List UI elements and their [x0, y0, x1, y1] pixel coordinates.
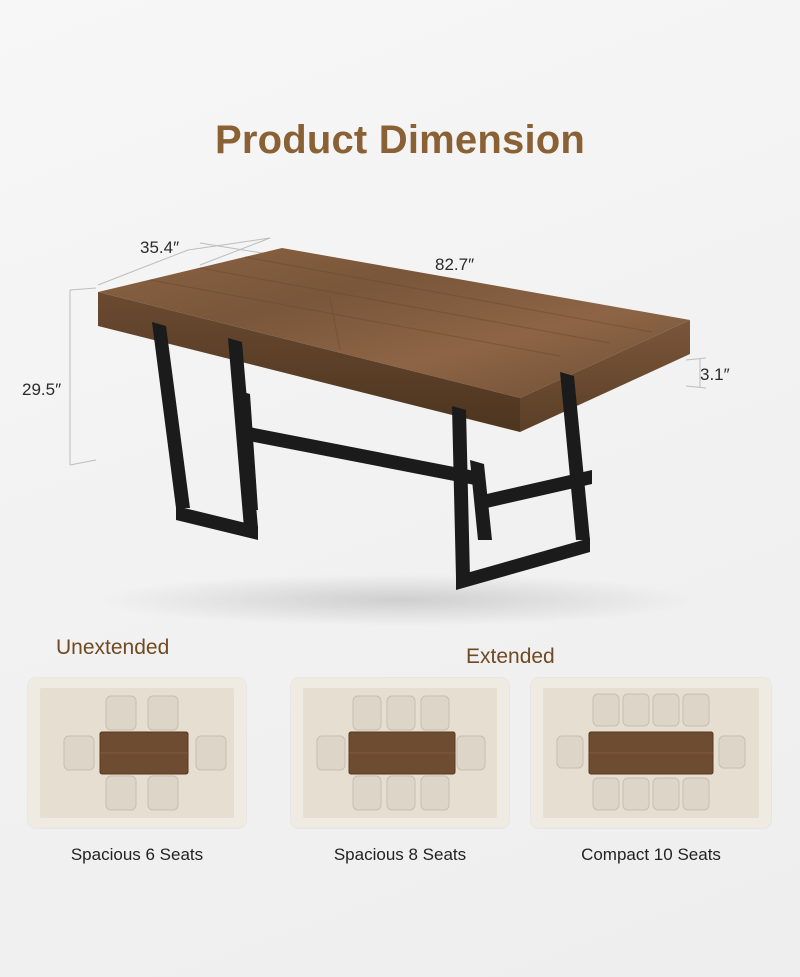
top-view-8-seats — [291, 678, 509, 828]
top-view-10-seats — [531, 678, 771, 828]
caption-8-seats: Spacious 8 Seats — [291, 845, 509, 865]
height-dimension-label: 29.5″ — [22, 380, 61, 400]
thickness-dimension-label: 3.1″ — [700, 365, 730, 385]
config-thumbnail-8-seats[interactable] — [291, 678, 509, 828]
table-illustration: 35.4″ 82.7″ 29.5″ 3.1″ — [0, 210, 800, 630]
caption-6-seats: Spacious 6 Seats — [28, 845, 246, 865]
width-dimension-label: 35.4″ — [140, 238, 179, 258]
config-thumbnail-6-seats[interactable] — [28, 678, 246, 828]
page-title: Product Dimension — [0, 118, 800, 163]
section-label-extended: Extended — [466, 645, 555, 669]
section-label-unextended: Unextended — [56, 636, 169, 660]
top-view-6-seats — [28, 678, 246, 828]
config-thumbnail-10-seats[interactable] — [531, 678, 771, 828]
table-diagram-svg — [0, 210, 800, 630]
caption-10-seats: Compact 10 Seats — [531, 845, 771, 865]
product-dimension-page: Product Dimension — [0, 0, 800, 977]
length-dimension-label: 82.7″ — [435, 255, 474, 275]
